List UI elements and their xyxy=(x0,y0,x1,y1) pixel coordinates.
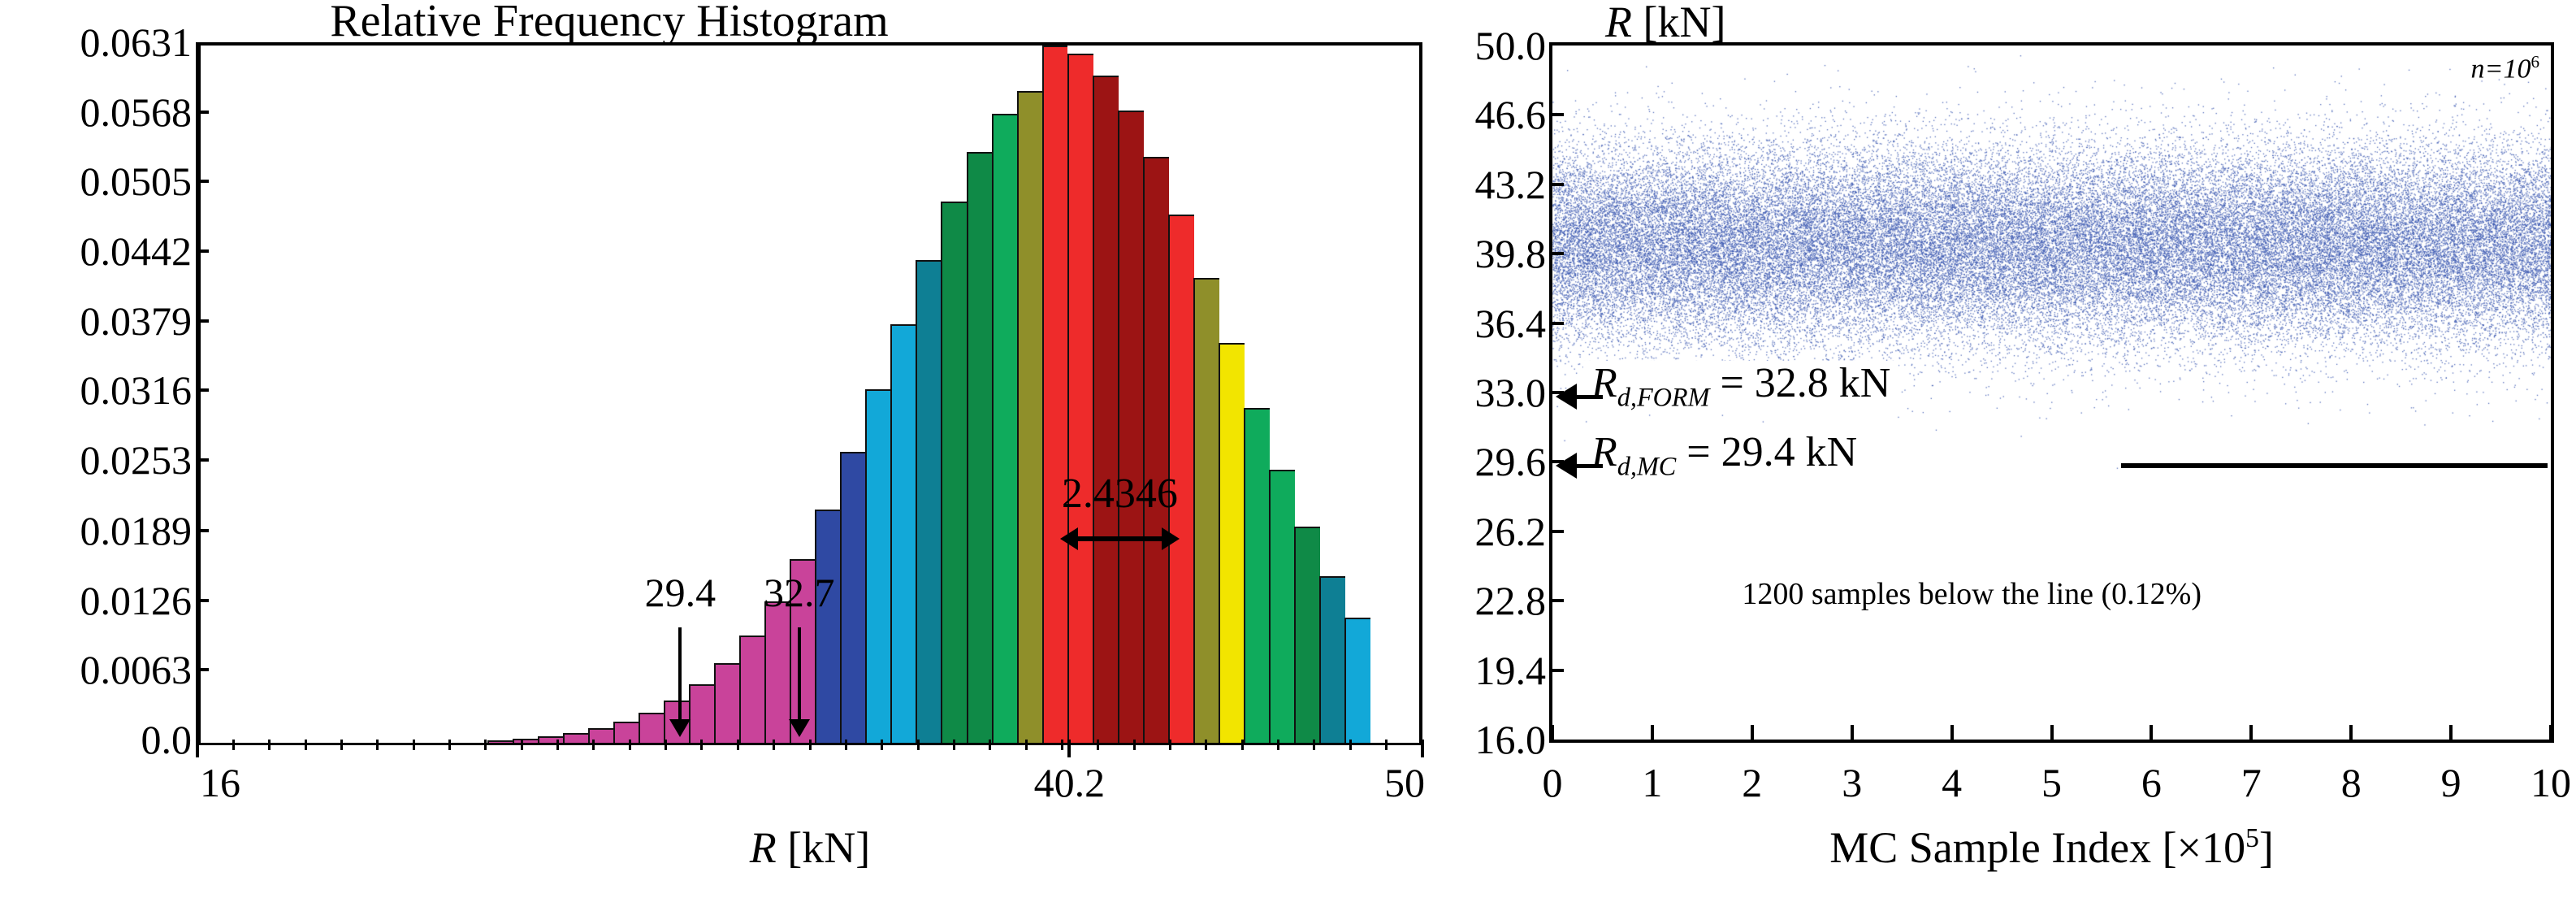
histogram-bar xyxy=(1244,408,1270,743)
histogram-bar xyxy=(1319,576,1345,743)
scatter-x-tick-label: 5 xyxy=(2041,759,2062,806)
x-tick-mark xyxy=(1133,740,1136,750)
scatter-x-title-prefix: MC Sample Index [×10 xyxy=(1829,823,2245,872)
x-tick-label: 40.2 xyxy=(1034,759,1106,806)
y-tick-label: 0.0379 xyxy=(80,297,193,345)
histogram-bar xyxy=(967,152,993,743)
figure-container: Relative Frequency Histogram 0.06310.056… xyxy=(0,0,2576,924)
scatter-y-tick-label: 33.0 xyxy=(1475,369,1547,416)
x-tick-mark xyxy=(1241,740,1244,750)
histogram-bar xyxy=(1017,91,1043,743)
x-tick-mark xyxy=(376,740,379,750)
histogram-annotation-arrow xyxy=(798,627,801,721)
scatter-x-tick-label: 9 xyxy=(2441,759,2461,806)
x-tick-mark xyxy=(629,740,631,750)
histogram-panel: Relative Frequency Histogram 0.06310.056… xyxy=(0,0,1454,924)
scatter-x-tick-mark xyxy=(2150,725,2153,740)
y-tick-mark xyxy=(196,668,209,671)
scatter-y-tick-label: 16.0 xyxy=(1475,716,1547,763)
histogram-bar xyxy=(1067,54,1093,743)
x-tick-label: 16 xyxy=(200,759,240,806)
scatter-x-tick-mark xyxy=(1950,725,1954,740)
histogram-bar xyxy=(513,739,539,743)
y-tick-label: 0.0505 xyxy=(80,158,193,205)
scatter-x-tick-label: 4 xyxy=(1942,759,1962,806)
scatter-y-tick-label: 36.4 xyxy=(1475,300,1547,347)
x-tick-label: 50 xyxy=(1384,759,1425,806)
form-value: = 32.8 kN xyxy=(1709,360,1890,406)
histogram-bar xyxy=(992,114,1018,743)
y-tick-label: 0.0253 xyxy=(80,436,193,484)
x-tick-mark xyxy=(268,740,271,750)
x-tick-mark xyxy=(232,740,235,750)
histogram-bar xyxy=(764,601,790,743)
reference-arrow-tail xyxy=(1575,395,1603,399)
scatter-plot-area: n=106 Rd,FORM = 32.8 kN Rd,MC = 29.4 kN … xyxy=(1549,42,2554,743)
mc-callout: Rd,MC = 29.4 kN xyxy=(1583,430,1865,483)
scatter-y-tick-mark xyxy=(1552,530,1564,533)
scatter-x-tick-mark xyxy=(1751,725,1754,740)
histogram-bar xyxy=(890,324,916,743)
scatter-x-tick-mark xyxy=(1551,725,1554,740)
reference-arrow-tail xyxy=(1575,464,1603,468)
x-tick-mark xyxy=(1349,740,1352,750)
x-tick-mark xyxy=(700,740,703,750)
x-tick-mark xyxy=(845,740,847,750)
x-tick-mark xyxy=(1169,740,1171,750)
x-tick-mark xyxy=(989,740,991,750)
histogram-bar xyxy=(714,663,740,743)
x-tick-mark xyxy=(1385,740,1388,750)
y-tick-label: 0.0063 xyxy=(80,646,193,693)
x-tick-mark-major xyxy=(1067,740,1071,757)
scatter-y-tick-label: 50.0 xyxy=(1475,22,1547,69)
x-tick-mark xyxy=(1313,740,1315,750)
page-title: Relative Frequency Histogram xyxy=(244,0,975,47)
y-axis-title: R [kN] xyxy=(1605,0,1725,47)
sample-count-label: n=106 xyxy=(2471,52,2540,85)
reference-arrow-head xyxy=(1556,384,1577,410)
mc-reference-line xyxy=(2121,463,2548,468)
std-dev-label: 2.4346 xyxy=(1062,470,1178,518)
below-line-note: 1200 samples below the line (0.12%) xyxy=(1742,576,2202,612)
reference-arrow-head xyxy=(1556,453,1577,479)
scatter-y-tick-mark xyxy=(1552,599,1564,602)
x-tick-mark xyxy=(592,740,595,750)
scatter-y-tick-label: 19.4 xyxy=(1475,647,1547,694)
x-tick-mark xyxy=(556,740,559,750)
y-tick-mark xyxy=(196,111,209,114)
histogram-bar xyxy=(639,713,665,743)
y-axis-title-unit: [kN] xyxy=(1632,0,1725,46)
histogram-bar xyxy=(1294,527,1320,744)
histogram-bar xyxy=(1219,343,1245,743)
y-tick-label: 0.0316 xyxy=(80,367,193,414)
x-tick-mark xyxy=(809,740,812,750)
histogram-bar xyxy=(1269,470,1295,743)
y-tick-mark xyxy=(196,388,209,392)
x-tick-mark-major xyxy=(196,740,199,757)
scatter-x-tick-label: 1 xyxy=(1642,759,1662,806)
scatter-x-title-suffix: ] xyxy=(2259,823,2274,872)
scatter-x-title-exponent: 5 xyxy=(2245,823,2259,853)
scatter-y-tick-label: 29.6 xyxy=(1475,438,1547,485)
scatter-x-tick-label: 0 xyxy=(1543,759,1563,806)
scatter-x-tick-mark xyxy=(2249,725,2253,740)
mc-symbol: R xyxy=(1591,429,1617,475)
histogram-bar xyxy=(1193,278,1219,743)
scatter-x-tick-label: 2 xyxy=(1742,759,1762,806)
scatter-y-tick-mark xyxy=(1552,183,1564,186)
histogram-bars xyxy=(201,46,1419,743)
scatter-x-tick-label: 7 xyxy=(2241,759,2262,806)
mc-value: = 29.4 kN xyxy=(1676,429,1857,475)
x-tick-mark xyxy=(917,740,920,750)
histogram-bar xyxy=(916,260,942,743)
scatter-panel: R [kN] n=106 Rd,FORM = 32.8 kN Rd,MC = 2… xyxy=(1454,0,2576,924)
y-tick-label: 0.0 xyxy=(141,716,193,763)
scatter-x-tick-mark xyxy=(1851,725,1854,740)
std-dev-double-arrow xyxy=(1076,536,1162,541)
histogram-bar xyxy=(865,389,891,743)
y-axis-title-symbol: R xyxy=(1605,0,1632,46)
histogram-bar xyxy=(1344,618,1370,743)
x-tick-mark xyxy=(1205,740,1207,750)
y-tick-label: 0.0126 xyxy=(80,577,193,624)
scatter-x-tick-mark xyxy=(2349,725,2353,740)
x-tick-mark xyxy=(413,740,415,750)
histogram-bar xyxy=(941,202,967,743)
x-tick-mark xyxy=(448,740,451,750)
scatter-x-tick-label: 3 xyxy=(1842,759,1862,806)
histogram-bar xyxy=(613,722,639,743)
x-tick-mark xyxy=(484,740,487,750)
y-tick-label: 0.0189 xyxy=(80,507,193,554)
histogram-bar xyxy=(1143,157,1169,743)
sample-count-prefix: n=10 xyxy=(2471,54,2531,84)
y-tick-label: 0.0568 xyxy=(80,89,193,136)
form-callout: Rd,FORM = 32.8 kN xyxy=(1583,361,1898,414)
scatter-x-tick-mark xyxy=(2549,725,2552,740)
x-tick-mark xyxy=(1097,740,1099,750)
histogram-bar xyxy=(538,736,564,743)
form-subscript: d,FORM xyxy=(1617,382,1710,411)
x-axis-title-unit: [kN] xyxy=(777,823,870,872)
y-tick-mark xyxy=(196,180,209,183)
y-tick-label: 0.0442 xyxy=(80,228,193,275)
histogram-annotation-label: 32.7 xyxy=(764,569,835,616)
histogram-bar xyxy=(1118,111,1144,743)
y-tick-mark xyxy=(196,458,209,462)
y-tick-mark xyxy=(196,249,209,253)
form-symbol: R xyxy=(1591,360,1617,406)
scatter-x-tick-mark xyxy=(2449,725,2453,740)
histogram-bar xyxy=(739,636,765,743)
x-tick-mark xyxy=(737,740,739,750)
scatter-y-tick-mark xyxy=(1552,669,1564,672)
scatter-y-tick-label: 39.8 xyxy=(1475,230,1547,277)
x-tick-mark xyxy=(665,740,667,750)
scatter-x-tick-label: 8 xyxy=(2341,759,2362,806)
y-tick-mark xyxy=(196,529,209,532)
scatter-y-tick-label: 43.2 xyxy=(1475,161,1547,208)
scatter-y-tick-mark xyxy=(1552,252,1564,255)
scatter-x-axis-title: MC Sample Index [×105] xyxy=(1549,822,2554,873)
histogram-bar xyxy=(563,733,589,743)
x-tick-mark xyxy=(1061,740,1063,750)
x-tick-mark xyxy=(1277,740,1279,750)
scatter-x-tick-mark xyxy=(2050,725,2054,740)
histogram-bar xyxy=(1093,76,1119,743)
histogram-annotation-arrow xyxy=(678,627,682,721)
y-tick-mark xyxy=(196,599,209,602)
x-tick-mark-major xyxy=(1421,740,1424,757)
histogram-bar xyxy=(487,740,513,743)
x-axis-title-symbol: R xyxy=(750,823,777,872)
scatter-x-tick-label: 6 xyxy=(2141,759,2162,806)
sample-count-exponent: 6 xyxy=(2531,52,2539,72)
x-tick-mark xyxy=(305,740,307,750)
histogram-bar xyxy=(1042,46,1068,743)
scatter-x-tick-label: 10 xyxy=(2531,759,2571,806)
scatter-y-tick-mark xyxy=(1552,322,1564,325)
x-axis-title: R [kN] xyxy=(197,822,1422,873)
y-tick-label: 0.0631 xyxy=(80,19,193,66)
y-tick-mark xyxy=(196,319,209,323)
x-tick-mark xyxy=(340,740,343,750)
x-tick-mark xyxy=(1025,740,1028,750)
scatter-y-tick-label: 22.8 xyxy=(1475,577,1547,624)
histogram-plot-area xyxy=(197,42,1422,743)
x-tick-mark xyxy=(953,740,955,750)
histogram-bar xyxy=(840,452,866,743)
mc-subscript: d,MC xyxy=(1617,452,1677,481)
scatter-y-tick-label: 46.6 xyxy=(1475,91,1547,138)
histogram-annotation-label: 29.4 xyxy=(645,569,717,616)
scatter-x-tick-mark xyxy=(1651,725,1654,740)
scatter-y-tick-label: 26.2 xyxy=(1475,508,1547,555)
x-tick-mark xyxy=(881,740,883,750)
x-tick-mark xyxy=(521,740,523,750)
x-tick-mark xyxy=(773,740,775,750)
histogram-bar xyxy=(815,510,841,743)
scatter-y-tick-mark xyxy=(1552,113,1564,116)
histogram-bar xyxy=(689,684,715,743)
